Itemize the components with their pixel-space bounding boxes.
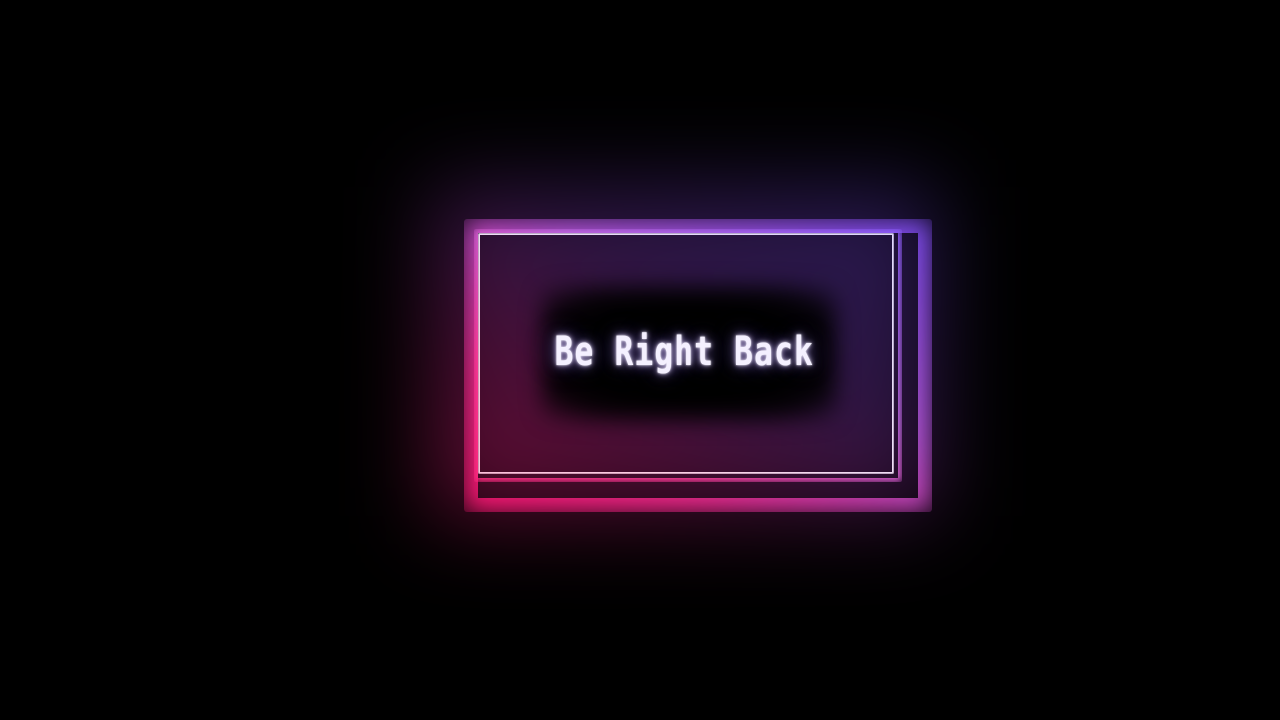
brb-screen: Be Right Back <box>0 0 1280 720</box>
brb-headline-text: Be Right Back <box>554 332 813 372</box>
headline-container: Be Right Back <box>478 233 890 470</box>
